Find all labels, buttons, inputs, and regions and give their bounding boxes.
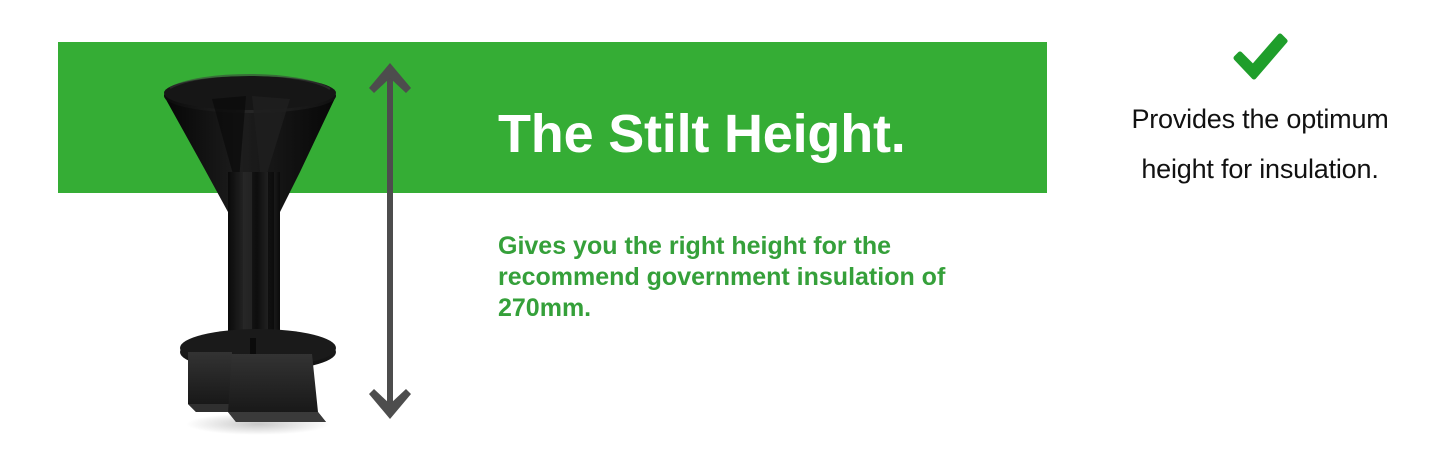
benefit-text-line-2: height for insulation. — [1085, 144, 1435, 194]
check-icon — [1230, 30, 1290, 86]
benefit-text-line-1: Provides the optimum — [1085, 94, 1435, 144]
benefit-callout: Provides the optimum height for insulati… — [1085, 30, 1435, 194]
product-image-loft-stilt — [140, 52, 370, 437]
stilt-height-banner: The Stilt Height. Gives you the right he… — [0, 0, 1445, 455]
page-title: The Stilt Height. — [498, 103, 906, 165]
subcopy-text: Gives you the right height for the recom… — [498, 231, 988, 324]
benefit-text: Provides the optimum height for insulati… — [1085, 94, 1435, 194]
double-headed-vertical-arrow-icon — [362, 60, 418, 422]
